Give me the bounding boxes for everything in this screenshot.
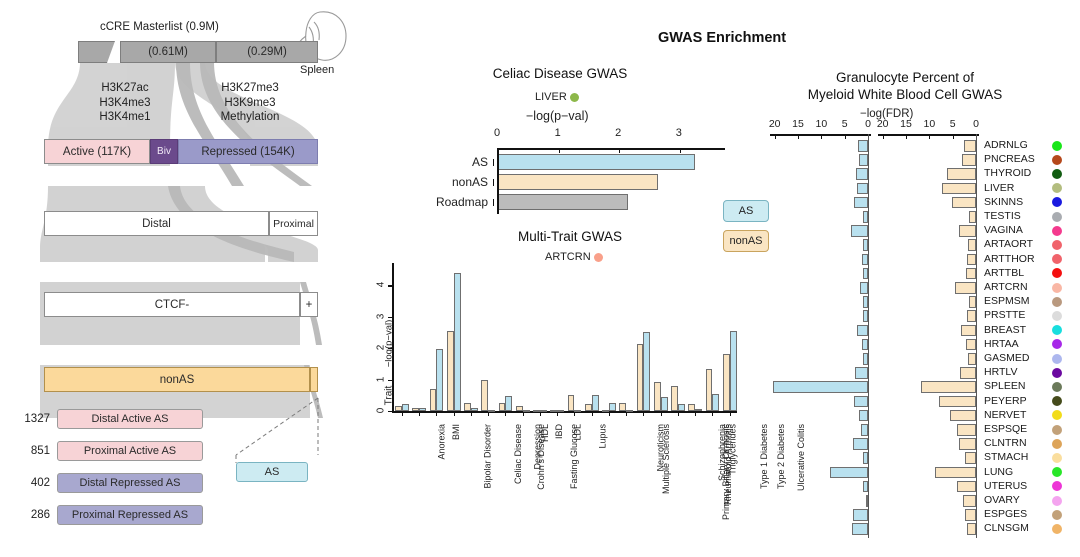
granulocyte-nonas-bar-liver	[942, 183, 976, 195]
multitrait-cat-label-12: Neuroticism	[655, 424, 665, 472]
multitrait-xtick	[471, 413, 472, 416]
multitrait-xtick	[643, 413, 644, 416]
multitrait-cat-label-10: Lupus	[598, 424, 608, 449]
tissue-dot-peyerp	[1052, 396, 1062, 406]
tissue-dot-uterus	[1052, 481, 1062, 491]
count-row-1: 851 Proximal Active AS	[16, 441, 203, 461]
tissue-dot-testis	[1052, 212, 1062, 222]
count-label-1: Proximal Active AS	[57, 441, 203, 461]
multitrait-xtick	[402, 413, 403, 416]
as-callout-box: AS	[236, 462, 308, 482]
granulocyte-as-bar-clntrn	[853, 438, 868, 450]
multitrait-ytick	[388, 285, 392, 286]
granulocyte-as-bar-liver	[857, 183, 868, 195]
multitrait-xtick	[505, 413, 506, 416]
tissue-dot-spleen	[1052, 382, 1062, 392]
granulocyte-as-bar-testis	[863, 211, 868, 223]
count-row-2: 402 Distal Repressed AS	[16, 473, 203, 493]
granulocyte-nonas-bar-prstte	[967, 310, 976, 322]
multitrait-bar-nonas-5	[481, 380, 488, 411]
tissue-dot-espmsm	[1052, 297, 1062, 307]
repressed-label: Repressed (154K)	[178, 139, 318, 164]
multitrait-xtick	[523, 413, 524, 416]
multi-trait-gwas-chart: Multi-Trait GWAS ARTCRN −log(p−val) Trai…	[370, 228, 760, 557]
tissue-dot-artthor	[1052, 254, 1062, 264]
tissue-dot-hrtlv	[1052, 368, 1062, 378]
celiac-tick	[619, 149, 620, 153]
active-label: Active (117K)	[44, 139, 150, 164]
granulocyte-gwas-chart: Granulocyte Percent of Myeloid White Blo…	[760, 60, 1080, 557]
granulocyte-as-bar-artaort	[863, 239, 868, 251]
count-label-3: Proximal Repressed AS	[57, 505, 203, 525]
multitrait-bar-as-13	[626, 410, 633, 412]
celiac-row-tick	[493, 199, 494, 206]
tissue-label-ovary: OVARY	[984, 494, 1020, 506]
mark-h3k27me3: H3K27me3	[185, 81, 315, 96]
granulocyte-as-bar-lung	[830, 467, 868, 479]
multitrait-bar-as-15	[661, 397, 668, 411]
granulocyte-as-bar-thyroid	[856, 168, 868, 180]
granulocyte-nonas-bar-spleen	[921, 381, 976, 393]
multitrait-cat-label-15: Schizophrenia	[717, 424, 727, 481]
granulocyte-nonas-bar-artaort	[968, 239, 976, 251]
granulocyte-as-bar-espsqe	[861, 424, 868, 436]
tissue-dot-ovary	[1052, 496, 1062, 506]
granulocyte-nonas-tick-label: 0	[969, 118, 983, 130]
granulocyte-nonas-bar-artthor	[967, 254, 976, 266]
count-value-1: 851	[16, 445, 50, 457]
count-label-0: Distal Active AS	[57, 409, 203, 429]
tissue-label-testis: TESTIS	[984, 210, 1021, 222]
tissue-label-clntrn: CLNTRN	[984, 437, 1027, 449]
distal-proximal-bar: Distal Proximal	[44, 211, 318, 236]
tissue-dot-lung	[1052, 467, 1062, 477]
tissue-label-espsqe: ESPSQE	[984, 423, 1027, 435]
multitrait-xtick	[712, 413, 713, 416]
celiac-bar-nonas	[498, 174, 658, 190]
tissue-label-spleen: SPLEEN	[984, 380, 1025, 392]
ctcf-bar: CTCF- +	[44, 292, 318, 317]
multitrait-bar-as-19	[730, 331, 737, 411]
granulocyte-as-tick-label: 20	[768, 118, 782, 130]
tissue-label-arttbl: ARTTBL	[984, 267, 1024, 279]
multitrait-bar-nonas-15	[654, 382, 661, 411]
multitrait-cat-label-8: IBD	[554, 424, 564, 439]
tissue-label-adrnlg: ADRNLG	[984, 139, 1028, 151]
multitrait-xtick	[436, 413, 437, 416]
granulocyte-nonas-bar-espges	[965, 509, 976, 521]
celiac-tick-label: 3	[676, 127, 682, 139]
multitrait-cat-label-16: Triglycerides	[728, 424, 738, 475]
multitrait-bar-as-11	[592, 395, 599, 411]
tissue-label-pncreas: PNCREAS	[984, 153, 1035, 165]
spleen-label: Spleen	[300, 64, 334, 76]
granulocyte-nonas-bar-clnsgm	[967, 523, 976, 535]
ccre-seg-left-label: (0.61M)	[120, 41, 216, 63]
multitrait-cat-label-9: LDL	[573, 424, 583, 441]
granulocyte-nonas-bar-espmsm	[969, 296, 976, 308]
granulocyte-as-bar-prstte	[863, 310, 868, 322]
tissue-dot-vagina	[1052, 226, 1062, 236]
tissue-label-gasmed: GASMED	[984, 352, 1030, 364]
tissue-label-artthor: ARTTHOR	[984, 253, 1035, 265]
count-row-0: 1327 Distal Active AS	[16, 409, 203, 429]
granulocyte-nonas-bar-uterus	[957, 481, 976, 493]
tissue-label-thyroid: THYROID	[984, 167, 1031, 179]
multitrait-bar-as-1	[419, 408, 426, 411]
granulocyte-as-bar-hrtaa	[862, 339, 868, 351]
tissue-label-espges: ESPGES	[984, 508, 1027, 520]
granulocyte-as-tick-label: 15	[791, 118, 805, 130]
granulocyte-as-bar-pncreas	[859, 154, 868, 166]
count-label-2: Distal Repressed AS	[57, 473, 203, 493]
granulocyte-as-bar-spleen	[773, 381, 868, 393]
multitrait-cat-label-1: Bipolar Disorder	[483, 424, 493, 489]
granulocyte-as-bar-peyerp	[854, 396, 868, 408]
multitrait-bar-as-8	[540, 410, 547, 412]
multitrait-bar-as-7	[523, 410, 530, 412]
granulocyte-as-bar-artcrn	[860, 282, 868, 294]
celiac-tick-label: 2	[615, 127, 621, 139]
multitrait-bar-as-9	[557, 410, 564, 412]
proximal-label: Proximal	[269, 211, 318, 236]
tissue-label-artaort: ARTAORT	[984, 238, 1033, 250]
multitrait-xtick	[609, 413, 610, 416]
celiac-bar-as	[498, 154, 695, 170]
multitrait-xtick	[454, 413, 455, 416]
celiac-plot-area: 0123ASnonASRoadmap	[390, 60, 730, 225]
granulocyte-nonas-bar-arttbl	[966, 268, 976, 280]
multitrait-xaxis-line	[392, 411, 737, 413]
granulocyte-as-tick	[775, 135, 776, 139]
count-value-3: 286	[16, 509, 50, 521]
celiac-tick	[680, 149, 681, 153]
multitrait-cat-label-0: Anorexia	[436, 424, 446, 460]
multitrait-ytick-label: 4	[376, 278, 387, 292]
granulocyte-as-bar-arttbl	[863, 268, 868, 280]
page-title: GWAS Enrichment	[658, 30, 786, 46]
granulocyte-nonas-bar-skinns	[952, 197, 976, 209]
tissue-label-artcrn: ARTCRN	[984, 281, 1028, 293]
multitrait-ytick-label: 2	[376, 341, 387, 355]
multitrait-bar-as-3	[454, 273, 461, 411]
marks-repressed-group: H3K27me3 H3K9me3 Methylation	[185, 81, 315, 125]
multitrait-xtick	[695, 413, 696, 416]
multitrait-xtick	[557, 413, 558, 416]
multitrait-ytick-label: 1	[376, 372, 387, 386]
tissue-label-lung: LUNG	[984, 466, 1013, 478]
multitrait-bar-nonas-9	[550, 410, 557, 412]
multitrait-bar-as-14	[643, 332, 650, 411]
tissue-dot-espsqe	[1052, 425, 1062, 435]
tissue-label-skinns: SKINNS	[984, 196, 1023, 208]
granulocyte-as-bar-artthor	[862, 254, 868, 266]
tissue-dot-artcrn	[1052, 283, 1062, 293]
multitrait-ytick-label: 3	[376, 309, 387, 323]
granulocyte-nonas-tick-label: 20	[876, 118, 890, 130]
multitrait-xtick	[592, 413, 593, 416]
multitrait-xtick	[540, 413, 541, 416]
granulocyte-nonas-bar-thyroid	[947, 168, 976, 180]
multitrait-bar-as-12	[609, 403, 616, 411]
multitrait-xtick	[574, 413, 575, 416]
multitrait-xtick	[730, 413, 731, 416]
multitrait-cat-label-3: Celiac Disease	[513, 424, 523, 484]
celiac-cat-label-roadmap: Roadmap	[390, 195, 488, 209]
granulocyte-as-bar-vagina	[851, 225, 868, 237]
multitrait-bar-as-5	[488, 410, 495, 412]
granulocyte-as-tick	[798, 135, 799, 139]
tissue-label-vagina: VAGINA	[984, 224, 1023, 236]
tissue-dot-stmach	[1052, 453, 1062, 463]
celiac-row-tick	[493, 159, 494, 166]
granulocyte-as-tick	[845, 135, 846, 139]
count-value-2: 402	[16, 477, 50, 489]
multitrait-bar-nonas-2	[430, 389, 437, 411]
ctcf-minus-label: CTCF-	[44, 292, 300, 317]
multitrait-bar-as-4	[471, 408, 478, 411]
ccre-masterlist-title: cCRE Masterlist (0.9M)	[100, 21, 219, 33]
tissue-label-hrtaa: HRTAA	[984, 338, 1019, 350]
granulocyte-nonas-bar-adrnlg	[964, 140, 976, 152]
multitrait-bar-nonas-8	[533, 410, 540, 412]
multitrait-plot-area: 01234AnorexiaBipolar DisorderBMICeliac D…	[370, 228, 760, 557]
ccre-masterlist-bar: (0.61M) (0.29M)	[78, 41, 318, 63]
celiac-disease-gwas-chart: Celiac Disease GWAS LIVER −log(p−val) 01…	[390, 60, 730, 225]
tissue-label-stmach: STMACH	[984, 451, 1028, 463]
granulocyte-nonas-tick	[883, 135, 884, 139]
multitrait-xtick	[419, 413, 420, 416]
multitrait-ytick	[388, 348, 392, 349]
granulocyte-nonas-bar-artcrn	[955, 282, 976, 294]
granulocyte-nonas-bar-clntrn	[959, 438, 976, 450]
multitrait-bar-nonas-18	[706, 369, 713, 411]
multitrait-bar-nonas-7	[516, 406, 523, 411]
tissue-label-clnsgm: CLNSGM	[984, 522, 1029, 534]
multitrait-ytick	[388, 317, 392, 318]
count-row-3: 286 Proximal Repressed AS	[16, 505, 203, 525]
tissue-dot-liver	[1052, 183, 1062, 193]
multitrait-bar-nonas-12	[602, 410, 609, 412]
multitrait-xtick	[661, 413, 662, 416]
multitrait-xtick	[678, 413, 679, 416]
ctcf-plus-label: +	[300, 292, 318, 317]
mark-h3k4me3: H3K4me3	[60, 96, 190, 111]
mark-h3k27ac: H3K27ac	[60, 81, 190, 96]
tissue-label-uterus: UTERUS	[984, 480, 1027, 492]
granulocyte-as-bar-adrnlg	[858, 140, 868, 152]
granulocyte-as-tick	[821, 135, 822, 139]
multitrait-xtick	[488, 413, 489, 416]
multitrait-bar-as-0	[402, 404, 409, 411]
tissue-dot-espges	[1052, 510, 1062, 520]
count-value-0: 1327	[16, 413, 50, 425]
multitrait-cat-label-7: HDL	[540, 424, 550, 442]
granulocyte-as-bar-espmsm	[863, 296, 868, 308]
multitrait-bar-nonas-1	[412, 408, 419, 411]
tissue-dot-prstte	[1052, 311, 1062, 321]
granulocyte-nonas-tick	[929, 135, 930, 139]
celiac-axis-line	[498, 148, 725, 150]
tissue-dot-nervet	[1052, 410, 1062, 420]
multitrait-bar-as-10	[574, 410, 581, 412]
granulocyte-as-bar-gasmed	[863, 353, 868, 365]
multitrait-bar-nonas-0	[395, 406, 402, 411]
tissue-dot-skinns	[1052, 197, 1062, 207]
tissue-label-nervet: NERVET	[984, 409, 1026, 421]
granulocyte-nonas-bar-hrtlv	[960, 367, 976, 379]
granulocyte-as-tick-label: 0	[861, 118, 875, 130]
tissue-label-prstte: PRSTTE	[984, 309, 1025, 321]
celiac-tick	[559, 149, 560, 153]
tissue-label-breast: BREAST	[984, 324, 1026, 336]
multitrait-xtick	[626, 413, 627, 416]
tissue-dot-clntrn	[1052, 439, 1062, 449]
tissue-label-espmsm: ESPMSM	[984, 295, 1030, 307]
multitrait-bar-as-6	[505, 396, 512, 411]
celiac-cat-label-nonas: nonAS	[390, 175, 488, 189]
multitrait-bar-nonas-4	[464, 403, 471, 411]
granulocyte-as-bar-espges	[853, 509, 868, 521]
tissue-dot-arttbl	[1052, 268, 1062, 278]
celiac-cat-label-as: AS	[390, 155, 488, 169]
multitrait-bar-as-17	[695, 409, 702, 411]
granulocyte-as-bar-nervet	[859, 410, 868, 422]
tissue-label-peyerp: PEYERP	[984, 395, 1027, 407]
granulocyte-as-tick-label: 5	[838, 118, 852, 130]
granulocyte-as-baseline	[868, 134, 869, 538]
granulocyte-as-bar-hrtlv	[855, 367, 868, 379]
granulocyte-as-bar-stmach	[863, 452, 868, 464]
granulocyte-nonas-tick	[906, 135, 907, 139]
granulocyte-as-bar-ovary	[866, 495, 868, 507]
multitrait-yaxis-line	[392, 263, 394, 412]
tissue-dot-thyroid	[1052, 169, 1062, 179]
multitrait-bar-as-16	[678, 404, 685, 411]
marks-active-group: H3K27ac H3K4me3 H3K4me1	[60, 81, 190, 125]
multitrait-bar-nonas-17	[688, 404, 695, 411]
granulocyte-plot-area: 2015105020151050ADRNLGPNCREASTHYROIDLIVE…	[760, 60, 1080, 557]
multitrait-bar-as-2	[436, 349, 443, 411]
granulocyte-nonas-tick-label: 15	[899, 118, 913, 130]
mark-h3k9me3: H3K9me3	[185, 96, 315, 111]
sankey-diagram-panel: cCRE Masterlist (0.9M) (0.61M) (0.29M) S…	[0, 0, 350, 557]
granulocyte-nonas-bar-espsqe	[957, 424, 976, 436]
granulocyte-as-bar-skinns	[854, 197, 868, 209]
multitrait-bar-nonas-16	[671, 386, 678, 411]
state-bar: Active (117K) Biv Repressed (154K)	[44, 139, 318, 164]
granulocyte-as-bar-breast	[857, 325, 868, 337]
mark-methylation: Methylation	[185, 110, 315, 125]
granulocyte-nonas-bar-lung	[935, 467, 976, 479]
tissue-dot-adrnlg	[1052, 141, 1062, 151]
mark-h3k4me1: H3K4me1	[60, 110, 190, 125]
multitrait-bar-nonas-10	[568, 395, 575, 411]
tissue-dot-clnsgm	[1052, 524, 1062, 534]
nonas-bar-label: nonAS	[44, 367, 310, 392]
tissue-dot-gasmed	[1052, 354, 1062, 364]
biv-label: Biv	[150, 139, 178, 164]
multitrait-bar-as-18	[712, 394, 719, 411]
distal-label: Distal	[44, 211, 269, 236]
multitrait-bar-nonas-11	[585, 404, 592, 411]
tissue-label-hrtlv: HRTLV	[984, 366, 1017, 378]
celiac-yaxis-spine	[497, 148, 499, 214]
multitrait-bar-nonas-6	[499, 403, 506, 411]
granulocyte-nonas-tick-label: 5	[946, 118, 960, 130]
granulocyte-as-bar-clnsgm	[852, 523, 868, 535]
granulocyte-as-bar-uterus	[863, 481, 868, 493]
granulocyte-nonas-bar-testis	[969, 211, 976, 223]
ccre-seg-right-label: (0.29M)	[216, 41, 318, 63]
multitrait-ytick	[388, 411, 392, 412]
granulocyte-as-tick-label: 10	[814, 118, 828, 130]
tissue-dot-breast	[1052, 325, 1062, 335]
multitrait-bar-nonas-3	[447, 331, 454, 411]
granulocyte-nonas-bar-gasmed	[968, 353, 976, 365]
granulocyte-nonas-bar-hrtaa	[966, 339, 976, 351]
granulocyte-nonas-bar-vagina	[959, 225, 976, 237]
multitrait-bar-nonas-14	[637, 344, 644, 411]
multitrait-cat-label-2: BMI	[451, 424, 461, 440]
celiac-bar-roadmap	[498, 194, 628, 210]
nonas-bar: nonAS	[44, 367, 318, 392]
granulocyte-nonas-tick	[953, 135, 954, 139]
granulocyte-nonas-bar-breast	[961, 325, 976, 337]
multitrait-ytick	[388, 380, 392, 381]
granulocyte-nonas-bar-stmach	[965, 452, 976, 464]
granulocyte-nonas-baseline	[976, 134, 977, 538]
tissue-dot-artaort	[1052, 240, 1062, 250]
tissue-dot-hrtaa	[1052, 339, 1062, 349]
multitrait-bar-nonas-19	[723, 354, 730, 411]
granulocyte-nonas-bar-ovary	[963, 495, 976, 507]
celiac-tick-label: 0	[494, 127, 500, 139]
celiac-tick-label: 1	[555, 127, 561, 139]
granulocyte-nonas-bar-pncreas	[962, 154, 976, 166]
granulocyte-nonas-bar-peyerp	[939, 396, 976, 408]
multitrait-bar-nonas-13	[619, 403, 626, 411]
granulocyte-nonas-bar-nervet	[950, 410, 976, 422]
tissue-label-liver: LIVER	[984, 182, 1014, 194]
tissue-dot-pncreas	[1052, 155, 1062, 165]
multitrait-ytick-label: 0	[376, 404, 387, 418]
celiac-row-tick	[493, 179, 494, 186]
granulocyte-nonas-tick-label: 10	[922, 118, 936, 130]
